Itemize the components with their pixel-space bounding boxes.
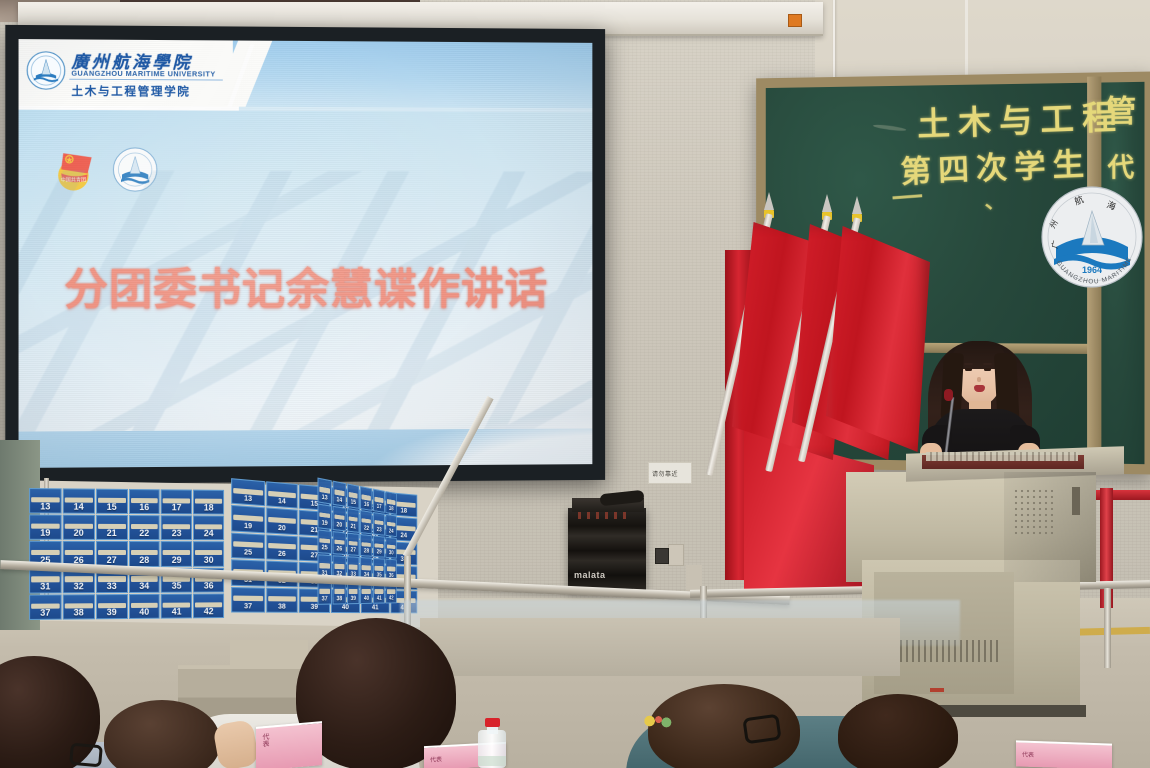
- phone-pocket-number: 16: [139, 502, 149, 512]
- name-card-text-1: 代表: [261, 733, 271, 748]
- projection-screen: 廣州航海學院 GUANGZHOU MARITIME UNIVERSITY 土木与…: [5, 25, 605, 484]
- phone-pocket-number: 19: [322, 520, 328, 527]
- phone-pocket-number: 41: [377, 596, 382, 602]
- phone-pocket[interactable]: 29: [373, 535, 385, 558]
- slide-college-name-cn: 土木与工程管理学院: [71, 83, 190, 100]
- amplifier-knobs[interactable]: [578, 512, 632, 519]
- phone-pocket-number: 15: [351, 499, 356, 506]
- phone-pocket-number: 15: [107, 502, 117, 512]
- phone-pocket-number: 37: [40, 608, 50, 618]
- podium-speaker-grille: [1013, 488, 1053, 536]
- phone-pocket[interactable]: 42: [193, 593, 224, 618]
- podium-control-panel[interactable]: [926, 452, 1078, 461]
- phone-pocket[interactable]: 23: [373, 512, 385, 536]
- phone-pocket[interactable]: 29: [161, 541, 192, 566]
- phone-pocket[interactable]: 23: [161, 515, 192, 540]
- phone-pocket[interactable]: 38: [63, 594, 95, 620]
- red-handrail: [1090, 490, 1150, 500]
- speaker-mouth: [974, 385, 985, 392]
- phone-pocket-number: 37: [322, 596, 328, 602]
- phone-pocket-number: 24: [204, 529, 214, 539]
- phone-pocket-number: 25: [322, 545, 328, 552]
- phone-pocket[interactable]: 37: [29, 594, 61, 620]
- slide-surface: 廣州航海學院 GUANGZHOU MARITIME UNIVERSITY 土木与…: [19, 39, 593, 468]
- podium-slot: [1072, 487, 1080, 515]
- low-wall: [420, 618, 900, 676]
- table-name-card-3: 代表: [1016, 740, 1112, 768]
- blackboard-text-line-1: 土木与工程: [917, 90, 1125, 146]
- audience-glasses-left-icon: [69, 743, 103, 768]
- phone-pocket-number: 14: [74, 502, 84, 512]
- phone-pocket[interactable]: 30: [386, 536, 397, 558]
- phone-pocket-number: 30: [389, 551, 394, 557]
- phone-pocket-number: 17: [172, 503, 182, 513]
- phone-pocket[interactable]: 24: [193, 516, 224, 541]
- phone-pocket-number: 30: [204, 555, 214, 565]
- phone-pocket[interactable]: 26: [333, 531, 346, 556]
- phone-pocket[interactable]: 20: [266, 508, 298, 535]
- slide-university-name-en: GUANGZHOU MARITIME UNIVERSITY: [71, 69, 215, 79]
- phone-pocket-number: 14: [278, 498, 286, 506]
- phone-pocket[interactable]: 15: [347, 483, 360, 508]
- phone-pocket[interactable]: 19: [29, 515, 61, 541]
- phone-pocket-number: 13: [322, 494, 328, 501]
- phone-pocket[interactable]: 17: [161, 489, 192, 514]
- phone-pocket[interactable]: 13: [317, 478, 331, 505]
- phone-pocket[interactable]: 40: [128, 594, 159, 619]
- screen-power-indicator-icon[interactable]: [788, 14, 802, 27]
- bottle-label: [478, 756, 506, 766]
- audience-glasses-right-icon: [742, 714, 781, 745]
- phone-pocket-number: 21: [107, 528, 117, 538]
- phone-pocket[interactable]: 25: [317, 529, 331, 555]
- phone-pocket-number: 31: [40, 581, 50, 591]
- phone-pocket[interactable]: 37: [231, 587, 265, 613]
- flag-spear-tip-icon: [764, 192, 774, 210]
- phone-pocket-number: 38: [278, 603, 286, 610]
- phone-pocket-number: 42: [204, 606, 214, 616]
- phone-pocket-number: 38: [74, 607, 84, 617]
- podium-indicator-icon: [930, 688, 944, 692]
- phone-pocket[interactable]: 25: [231, 532, 265, 559]
- phone-pocket-number: 40: [139, 607, 149, 617]
- blackboard-right-text-1: 管: [1105, 86, 1136, 131]
- phone-pocket-number: 18: [204, 503, 214, 513]
- phone-pocket[interactable]: 19: [231, 505, 265, 533]
- speaker-nose: [977, 377, 981, 382]
- phone-pocket-number: 27: [351, 548, 356, 554]
- wall-notice-text: 请勿靠近: [652, 469, 678, 478]
- phone-pocket[interactable]: 41: [161, 593, 192, 618]
- phone-pocket-number: 17: [377, 504, 382, 511]
- phone-pocket-number: 14: [336, 497, 342, 504]
- phone-pocket[interactable]: 38: [266, 587, 298, 613]
- microphone-icon: [944, 389, 953, 401]
- phone-pocket-number: 25: [244, 549, 252, 557]
- wall-outlet-plate: [668, 544, 684, 566]
- phone-pocket-number: 42: [389, 596, 394, 602]
- phone-pocket-number: 13: [244, 496, 252, 504]
- phone-pocket[interactable]: 18: [386, 491, 397, 514]
- phone-pocket[interactable]: 39: [96, 594, 128, 620]
- phone-pocket-number: 20: [336, 522, 342, 529]
- phone-pocket-number: 19: [244, 522, 252, 530]
- pocket-board-panel-1: 1314151617181920212223242526272829303132…: [29, 488, 224, 620]
- phone-pocket-number: 20: [74, 528, 84, 538]
- phone-pocket[interactable]: 18: [193, 490, 224, 515]
- phone-pocket[interactable]: 30: [193, 542, 224, 567]
- phone-pocket[interactable]: 15: [96, 489, 128, 514]
- phone-pocket-number: 13: [40, 502, 50, 512]
- phone-pocket-number: 39: [107, 607, 117, 617]
- phone-pocket[interactable]: 21: [347, 508, 360, 533]
- phone-pocket[interactable]: 21: [96, 515, 128, 540]
- phone-pocket[interactable]: 26: [266, 534, 298, 561]
- phone-pocket[interactable]: 13: [231, 478, 265, 506]
- university-seal-icon: 1964 航 海 州 广 GUANGZHOU MARITIME UNIV: [1040, 185, 1144, 289]
- phone-pocket[interactable]: 14: [333, 481, 346, 507]
- phone-pocket-number: 27: [107, 555, 117, 565]
- phone-pocket-number: 33: [107, 581, 117, 591]
- phone-pocket-number: 35: [172, 581, 182, 591]
- lecture-hall-photo: ZG1181 廣州航海學院 GUANGZHOU MARITIME UNIVERS…: [0, 0, 1150, 768]
- phone-pocket[interactable]: 20: [333, 506, 346, 531]
- svg-text:1964: 1964: [1082, 265, 1102, 275]
- slide-header-emblem-icon: [26, 50, 67, 91]
- bottle-cap-icon: [485, 718, 500, 727]
- blackboard-text-line-3: 、: [983, 184, 1006, 215]
- phone-pocket[interactable]: 19: [317, 503, 331, 529]
- phone-pocket-number: 32: [74, 581, 84, 591]
- phone-pocket-number: 29: [172, 555, 182, 565]
- phone-pocket-number: 24: [401, 532, 408, 539]
- phone-pocket-number: 41: [372, 604, 379, 611]
- blackboard-right-text-2: 代: [1108, 147, 1135, 185]
- phone-pocket[interactable]: 14: [266, 481, 298, 509]
- slide-title: 分团委书记余慧谍作讲话: [19, 255, 593, 318]
- flag-cloth-3: [826, 226, 930, 452]
- phone-pocket[interactable]: 22: [360, 510, 372, 534]
- phone-pocket-number: 39: [351, 596, 356, 602]
- phone-pocket[interactable]: 22: [128, 515, 159, 540]
- phone-pocket-number: 16: [364, 501, 369, 508]
- water-bottle: [478, 718, 506, 768]
- phone-pocket-number: 18: [389, 506, 394, 512]
- phone-pocket-number: 24: [389, 528, 394, 534]
- flag-group: [742, 192, 932, 492]
- hair-clip-icon: [644, 714, 672, 728]
- phone-pocket-number: 40: [364, 596, 369, 602]
- phone-pocket-number: 26: [278, 551, 286, 559]
- phone-pocket-number: 23: [377, 527, 382, 533]
- speaker-eye-left: [965, 368, 972, 371]
- audience-head-5: [838, 694, 958, 768]
- wall-notice-sign: 请勿靠近: [648, 462, 692, 484]
- phone-pocket-number: 29: [377, 550, 382, 556]
- phone-pocket[interactable]: 16: [128, 489, 159, 514]
- phone-pocket[interactable]: 27: [96, 541, 128, 566]
- phone-pocket[interactable]: 27: [347, 532, 360, 556]
- speaker-eye-right: [984, 368, 991, 371]
- phone-pocket[interactable]: 13: [29, 488, 61, 514]
- flag-spear-tip-icon: [852, 196, 862, 214]
- phone-pocket-number: 18: [401, 508, 408, 515]
- phone-pocket[interactable]: 24: [386, 514, 397, 537]
- phone-pocket[interactable]: 20: [63, 515, 95, 541]
- phone-pocket-number: 22: [364, 525, 369, 532]
- phone-pocket-number: 22: [139, 528, 149, 538]
- railing-post-3: [1104, 588, 1111, 668]
- phone-pocket[interactable]: 28: [128, 541, 159, 566]
- phone-pocket-number: 38: [336, 596, 342, 602]
- speaker-eyebrow-left: [964, 363, 973, 365]
- amplifier-brand-label: malata: [574, 570, 606, 580]
- phone-pocket[interactable]: 16: [360, 486, 372, 511]
- phone-pocket-number: 41: [172, 607, 182, 617]
- table-name-card-1: 代表: [256, 721, 322, 768]
- phone-pocket[interactable]: 14: [63, 488, 95, 514]
- phone-pocket-number: 28: [139, 555, 149, 565]
- phone-pocket-number: 40: [342, 604, 349, 611]
- phone-pocket-number: 34: [139, 581, 149, 591]
- phone-pocket[interactable]: 17: [373, 489, 385, 513]
- phone-pocket[interactable]: 28: [360, 534, 372, 558]
- phone-pocket-number: 19: [40, 528, 50, 538]
- phone-pocket-number: 26: [336, 546, 342, 553]
- phone-pocket-number: 28: [364, 549, 369, 555]
- phone-pocket-number: 37: [244, 603, 252, 610]
- power-adapter-icon: [655, 548, 669, 564]
- speaker-person: [920, 335, 1040, 465]
- name-card-text-3: 代表: [1022, 750, 1034, 759]
- flag-spear-tip-icon: [822, 194, 832, 212]
- phone-pocket-number: 23: [172, 529, 182, 539]
- speaker-eyebrow-right: [983, 363, 992, 365]
- name-card-text-2: 代表: [430, 754, 442, 764]
- phone-pocket-number: 20: [278, 525, 286, 533]
- phone-pocket-number: 36: [204, 580, 214, 590]
- phone-pocket-number: 21: [351, 523, 356, 530]
